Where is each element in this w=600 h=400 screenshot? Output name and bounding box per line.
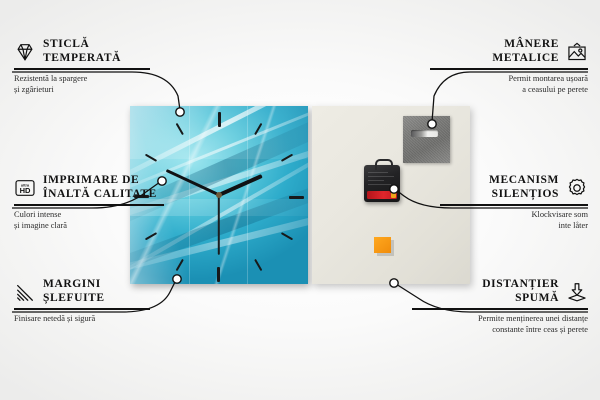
divider <box>412 308 588 309</box>
feature-subtitle: Klockvisare som inte låter <box>440 209 588 231</box>
feature-polished-edges[interactable]: MARGINI ȘLEFUITE Finisare netedă și sigu… <box>14 278 150 324</box>
glass-seam <box>189 106 190 284</box>
feature-title: DISTANȚIER SPUMĂ <box>482 278 559 305</box>
diamond-icon <box>14 41 36 63</box>
feature-subtitle: Permit montarea ușoară a ceasului pe per… <box>430 73 588 95</box>
feature-subtitle: Rezistentă la spargere și zgârieturi <box>14 73 150 95</box>
movement-detail <box>368 172 388 173</box>
keyhole-slot <box>411 130 438 137</box>
polished-edge-icon <box>14 281 36 303</box>
product-image <box>130 106 470 284</box>
feature-subtitle: Finisare netedă și sigură <box>14 313 150 324</box>
glass-seam <box>247 106 248 284</box>
feature-title: MECANISM SILENȚIOS <box>489 174 559 201</box>
infographic-canvas: STICLĂ TEMPERATĂ Rezistentă la spargere … <box>0 0 600 400</box>
feature-silent-movement[interactable]: MECANISM SILENȚIOS Klockvisare som inte … <box>440 174 588 231</box>
feature-title: MÂNERE METALICE <box>492 38 559 65</box>
second-hand <box>218 195 220 255</box>
feature-tempered-glass[interactable]: STICLĂ TEMPERATĂ Rezistentă la spargere … <box>14 38 150 95</box>
ultra-hd-icon: ultra HD <box>14 177 36 199</box>
feature-title: STICLĂ TEMPERATĂ <box>43 38 121 65</box>
feature-foam-spacer[interactable]: DISTANȚIER SPUMĂ Permite menținerea unei… <box>412 278 588 335</box>
divider <box>430 68 588 69</box>
battery-terminal <box>391 192 396 198</box>
picture-hanger-icon <box>566 41 588 63</box>
hanger-bail <box>375 159 393 170</box>
svg-text:HD: HD <box>20 186 31 195</box>
movement-detail <box>368 180 384 181</box>
foam-spacer-pad <box>374 237 391 253</box>
metal-hanger-plate <box>403 116 450 163</box>
divider <box>14 308 150 309</box>
gear-icon <box>566 177 588 199</box>
feature-subtitle: Culori intense și imagine clară <box>14 209 164 231</box>
divider <box>14 204 164 205</box>
feature-title: IMPRIMARE DE ÎNALTĂ CALITATE <box>43 174 157 201</box>
movement-detail <box>368 184 391 185</box>
feature-hd-print[interactable]: ultra HD IMPRIMARE DE ÎNALTĂ CALITATE Cu… <box>14 174 164 231</box>
feature-subtitle: Permite menținerea unei distanțe constan… <box>412 313 588 335</box>
divider <box>440 204 588 205</box>
divider <box>14 68 150 69</box>
hand-cap <box>216 192 222 198</box>
movement-detail <box>368 176 394 177</box>
feature-metal-hangers[interactable]: MÂNERE METALICE Permit montarea ușoară a… <box>430 38 588 95</box>
foam-spacer-icon <box>566 281 588 303</box>
battery <box>367 191 397 199</box>
feature-title: MARGINI ȘLEFUITE <box>43 278 105 305</box>
clock-movement <box>364 165 400 202</box>
brushed-metal-texture <box>403 116 450 163</box>
